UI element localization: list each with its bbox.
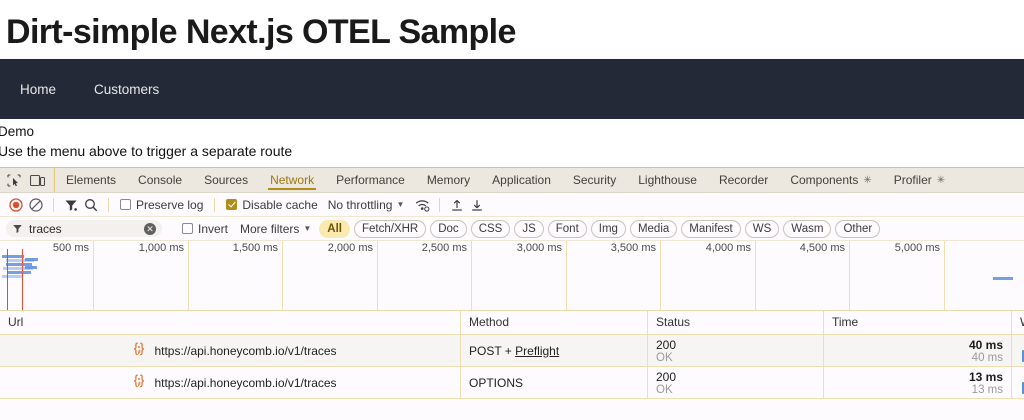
time-latency: 40 ms [972, 352, 1003, 364]
nav-link-customers[interactable]: Customers [94, 82, 159, 97]
filter-value: traces [29, 222, 138, 236]
column-header-status[interactable]: Status [648, 311, 824, 334]
status-code: 200 [656, 370, 823, 384]
timeline-tick: 5,000 ms [0, 241, 945, 310]
type-chip-doc[interactable]: Doc [430, 220, 466, 238]
devtools-tool-icons [0, 168, 55, 192]
tab-label: Profiler [894, 173, 932, 187]
page-content: Demo Use the menu above to trigger a sep… [0, 119, 1024, 162]
method-value: OPTIONS [469, 376, 647, 390]
method-value: POST + [469, 344, 515, 358]
table-row[interactable]: https://api.honeycomb.io/v1/traces OPTIO… [0, 367, 1024, 399]
invert-checkbox[interactable]: Invert [178, 222, 232, 236]
column-header-time[interactable]: Time [824, 311, 1012, 334]
column-header-method[interactable]: Method [461, 311, 648, 334]
disable-cache-label: Disable cache [242, 198, 317, 212]
cell-method: OPTIONS [461, 367, 648, 398]
type-chip-font[interactable]: Font [548, 220, 587, 238]
request-url: https://api.honeycomb.io/v1/traces [154, 344, 336, 358]
tab-profiler[interactable]: Profiler ✳ [883, 168, 956, 192]
time-total: 13 ms [969, 370, 1003, 384]
overview-request-bar [25, 258, 38, 261]
throttling-value: No throttling [328, 198, 393, 212]
filter-input[interactable]: traces ✕ [6, 220, 162, 237]
tab-label: Sources [204, 173, 248, 187]
type-chip-media[interactable]: Media [630, 220, 677, 238]
table-row[interactable]: https://api.honeycomb.io/v1/traces POST … [0, 335, 1024, 367]
tab-memory[interactable]: Memory [416, 168, 481, 192]
demo-subtext: Use the menu above to trigger a separate… [0, 140, 1024, 162]
tab-label: Performance [336, 173, 405, 187]
tab-label: Elements [66, 173, 116, 187]
toolbar-divider [53, 198, 54, 212]
overview-request-bar [25, 266, 37, 269]
more-filters-label: More filters [240, 222, 299, 236]
page-title: Dirt-simple Next.js OTEL Sample [0, 0, 1024, 59]
toolbar-divider [439, 198, 440, 212]
search-icon[interactable] [81, 196, 101, 214]
device-toolbar-icon[interactable] [29, 172, 46, 188]
time-total: 40 ms [969, 338, 1003, 352]
timeline-event-marker [22, 249, 23, 310]
tab-console[interactable]: Console [127, 168, 193, 192]
type-chip-js[interactable]: JS [514, 220, 543, 238]
tab-recorder[interactable]: Recorder [708, 168, 779, 192]
tab-label: Memory [427, 173, 470, 187]
overview-request-bar [7, 271, 31, 274]
overview-request-bar [2, 255, 24, 258]
request-url: https://api.honeycomb.io/v1/traces [154, 376, 336, 390]
timeline-tick-label: 5,000 ms [895, 242, 940, 254]
tab-sources[interactable]: Sources [193, 168, 259, 192]
status-text: OK [656, 384, 823, 396]
toolbar-divider [214, 198, 215, 212]
devtools-tabbar: Elements Console Sources Network Perform… [0, 168, 1024, 193]
json-request-icon [131, 341, 147, 360]
throttling-select[interactable]: No throttling ▼ [328, 198, 405, 212]
cell-status: 200 OK [648, 367, 824, 398]
cell-waterfall[interactable] [1012, 335, 1024, 366]
cell-time: 13 ms 13 ms [824, 367, 1012, 398]
type-chip-all[interactable]: All [319, 220, 350, 238]
column-header-url[interactable]: Url [0, 311, 461, 334]
overview-request-bar [993, 277, 1013, 280]
toolbar-divider [108, 198, 109, 212]
json-request-icon [131, 373, 147, 392]
more-filters-dropdown[interactable]: More filters ▼ [232, 222, 319, 236]
cell-waterfall[interactable] [1012, 367, 1024, 398]
clear-button[interactable] [26, 196, 46, 214]
disable-cache-checkbox[interactable]: Disable cache [222, 198, 321, 212]
tab-label: Network [270, 173, 314, 187]
record-button[interactable] [6, 196, 26, 214]
network-conditions-icon[interactable] [412, 196, 432, 214]
inspect-element-icon[interactable] [5, 172, 22, 188]
type-chip-wasm[interactable]: Wasm [783, 220, 831, 238]
demo-heading: Demo [0, 123, 1024, 140]
cell-method: POST + Preflight [461, 335, 648, 366]
filter-icon[interactable] [61, 196, 81, 214]
cell-status: 200 OK [648, 335, 824, 366]
checkbox-box [120, 199, 131, 210]
site-nav: Home Customers [0, 59, 1024, 119]
tab-components[interactable]: Components ✳ [779, 168, 882, 192]
cell-url[interactable]: https://api.honeycomb.io/v1/traces [0, 367, 461, 398]
tab-label: Application [492, 173, 551, 187]
checkbox-box [182, 223, 193, 234]
chevron-down-icon: ▼ [303, 224, 311, 233]
type-chip-other[interactable]: Other [835, 220, 880, 238]
clear-filter-icon[interactable]: ✕ [144, 223, 156, 235]
preflight-link[interactable]: Preflight [515, 344, 559, 358]
react-badge-icon: ✳ [937, 175, 945, 186]
tab-application[interactable]: Application [481, 168, 562, 192]
overview-request-bar [2, 275, 22, 278]
tab-performance[interactable]: Performance [325, 168, 416, 192]
cell-url[interactable]: https://api.honeycomb.io/v1/traces [0, 335, 461, 366]
type-chip-ws[interactable]: WS [745, 220, 780, 238]
tab-lighthouse[interactable]: Lighthouse [627, 168, 708, 192]
tab-label: Lighthouse [638, 173, 697, 187]
import-har-icon[interactable] [447, 196, 467, 214]
time-latency: 13 ms [972, 384, 1003, 396]
network-overview-timeline[interactable]: 500 ms1,000 ms1,500 ms2,000 ms2,500 ms3,… [0, 241, 1024, 311]
devtools-panel: Elements Console Sources Network Perform… [0, 167, 1024, 420]
method-text: POST + Preflight [469, 344, 647, 358]
export-har-icon[interactable] [467, 196, 487, 214]
tab-elements[interactable]: Elements [55, 168, 127, 192]
network-filter-bar: traces ✕ Invert More filters ▼ All Fetch… [0, 217, 1024, 241]
type-chip-fetch-xhr[interactable]: Fetch/XHR [354, 220, 426, 238]
column-header-waterfall[interactable]: W [1012, 311, 1024, 334]
tab-label: Security [573, 173, 616, 187]
type-chip-css[interactable]: CSS [471, 220, 511, 238]
funnel-icon [12, 223, 23, 234]
react-badge-icon: ✳ [863, 175, 871, 186]
timeline-ruler: 500 ms1,000 ms1,500 ms2,000 ms2,500 ms3,… [0, 241, 1024, 310]
invert-label: Invert [198, 222, 228, 236]
checkbox-box [226, 199, 237, 210]
status-code: 200 [656, 338, 823, 352]
network-toolbar: Preserve log Disable cache No throttling… [0, 193, 1024, 217]
preserve-log-label: Preserve log [136, 198, 203, 212]
tab-label: Components [790, 173, 858, 187]
table-header-row: Url Method Status Time W [0, 311, 1024, 335]
chevron-down-icon: ▼ [396, 200, 404, 209]
type-chip-img[interactable]: Img [591, 220, 626, 238]
status-text: OK [656, 352, 823, 364]
preserve-log-checkbox[interactable]: Preserve log [116, 198, 207, 212]
tab-security[interactable]: Security [562, 168, 627, 192]
tab-label: Console [138, 173, 182, 187]
cell-time: 40 ms 40 ms [824, 335, 1012, 366]
nav-link-home[interactable]: Home [20, 82, 56, 97]
type-chip-manifest[interactable]: Manifest [681, 220, 740, 238]
tab-network[interactable]: Network [259, 168, 325, 192]
network-request-table: Url Method Status Time W https://api.hon… [0, 311, 1024, 399]
timeline-event-marker [7, 249, 8, 310]
tab-label: Recorder [719, 173, 768, 187]
